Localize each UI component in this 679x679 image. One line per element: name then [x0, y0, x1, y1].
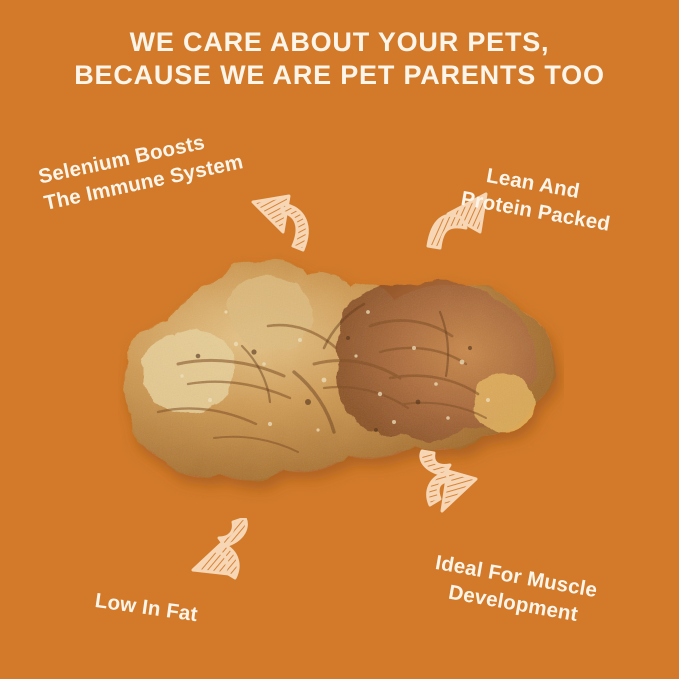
- page-title: WE CARE ABOUT YOUR PETS, BECAUSE WE ARE …: [0, 26, 679, 92]
- headline-line-2: BECAUSE WE ARE PET PARENTS TOO: [0, 59, 679, 92]
- curved-arrow-down-left-icon: [179, 518, 259, 603]
- promo-poster: WE CARE ABOUT YOUR PETS, BECAUSE WE ARE …: [0, 0, 679, 679]
- feature-caption-selenium: Selenium Boosts The Immune System: [36, 122, 246, 217]
- feature-caption-muscle: Ideal For Muscle Development: [429, 549, 600, 631]
- product-image: [118, 252, 564, 514]
- pet-treat-photo: [118, 252, 564, 514]
- curved-arrow-down-right-icon: [414, 449, 494, 534]
- curved-arrow-down-right-icon: [243, 188, 319, 269]
- headline-line-1: WE CARE ABOUT YOUR PETS,: [0, 26, 679, 59]
- feature-caption-lean: Lean And Protein Packed: [480, 162, 617, 238]
